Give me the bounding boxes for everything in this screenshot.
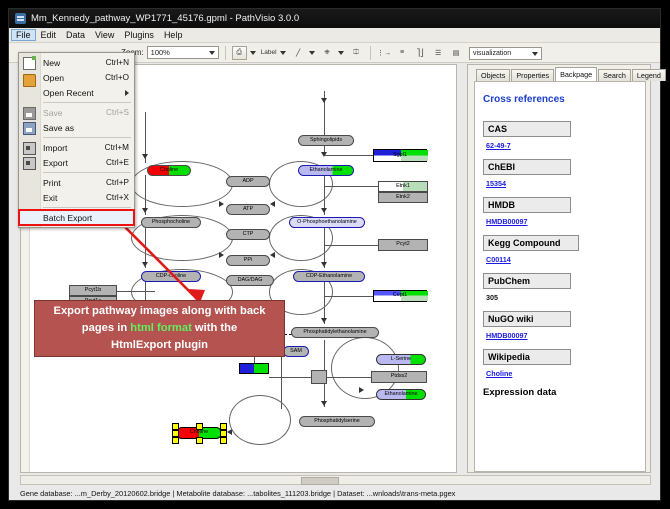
handle-ne[interactable]	[220, 423, 227, 430]
gene-pcyt1b[interactable]: Pcyt1b	[69, 285, 117, 296]
handle-nw[interactable]	[172, 423, 179, 430]
menu-item-exit[interactable]: Exit Ctrl+X	[19, 190, 134, 205]
xref-value-kegg[interactable]: C00114	[486, 255, 637, 264]
callout-line-2-before: pages in	[82, 322, 131, 334]
arrow-icon	[321, 401, 327, 406]
save-disk-icon	[23, 107, 36, 120]
edge	[324, 186, 378, 187]
cross-references-title: Cross references	[483, 94, 637, 105]
menu-item-save: Save Ctrl+S	[19, 105, 134, 120]
menu-item-open-recent-label: Open Recent	[43, 88, 94, 98]
node-l-serine[interactable]: L-Serine	[376, 354, 426, 365]
anchor-tool-icon[interactable]: ⎅	[349, 46, 364, 60]
title-bar: Mm_Kennedy_pathway_WP1771_45176.gpml - P…	[9, 9, 660, 28]
bring-front-icon[interactable]: ▤	[449, 46, 464, 60]
edge	[269, 377, 311, 378]
window-title: Mm_Kennedy_pathway_WP1771_45176.gpml - P…	[31, 13, 299, 24]
xref-label-nugo: NuGO wiki	[483, 311, 571, 327]
zoom-combobox[interactable]: 100%	[147, 46, 219, 59]
expression-data-heading: Expression data	[483, 387, 637, 398]
label-dropdown-icon[interactable]	[280, 51, 286, 55]
xref-value-wikipedia[interactable]: Choline	[486, 369, 637, 378]
toolbar-separator	[225, 46, 226, 60]
shape-tool-icon[interactable]: ⎈	[320, 46, 335, 60]
menu-item-exit-label: Exit	[43, 193, 57, 203]
visualization-combobox[interactable]: visualization	[469, 47, 542, 60]
scrollbar-thumb[interactable]	[301, 477, 339, 485]
edge	[324, 245, 378, 246]
menu-edit[interactable]: Edit	[36, 29, 62, 41]
menu-item-print[interactable]: Print Ctrl+P	[19, 175, 134, 190]
datanode-tool-icon[interactable]: ⎙	[232, 46, 247, 60]
node-phosphatidylethanolamine[interactable]: Phosphatidylethanolamine	[291, 327, 379, 338]
save-as-icon	[23, 122, 36, 135]
arrow-icon	[142, 208, 148, 213]
arrow-icon	[219, 201, 224, 207]
backpage-content: Cross references CAS 62-49-7 ChEBI 15354…	[474, 81, 646, 472]
menu-separator-1	[43, 102, 131, 103]
node-dag-dag[interactable]: DAG/DAG	[226, 275, 274, 286]
edge	[327, 377, 371, 378]
callout-line-1: Export pathway images along with back	[54, 303, 266, 320]
menu-item-new-accel: Ctrl+N	[106, 58, 129, 67]
menu-item-print-label: Print	[43, 178, 61, 188]
align-stack-icon[interactable]: ≡	[395, 46, 410, 60]
new-document-icon	[23, 57, 36, 70]
gene-ptdss2[interactable]: Ptdss2	[371, 371, 427, 383]
export-icon	[23, 157, 36, 170]
node-phosphatidylserine[interactable]: Phosphatidylserine	[299, 416, 375, 427]
menu-item-new[interactable]: New Ctrl+N	[19, 55, 134, 70]
menu-item-exit-accel: Ctrl+X	[106, 193, 129, 202]
menu-bar: File Edit Data View Plugins Help	[9, 28, 660, 43]
menu-item-export-accel: Ctrl+E	[106, 158, 129, 167]
menu-item-print-accel: Ctrl+P	[106, 178, 129, 187]
toolbar-separator-2	[370, 46, 371, 60]
node-ppi[interactable]: PPi	[226, 255, 270, 266]
node-phosphocholine[interactable]: Phosphocholine	[141, 217, 201, 228]
menu-item-open-accel: Ctrl+O	[105, 73, 129, 82]
xref-label-pubchem: PubChem	[483, 273, 571, 289]
distribute-icon[interactable]: ⎤⎦	[413, 46, 428, 60]
arrow-icon	[142, 262, 148, 267]
arrow-icon	[321, 318, 327, 323]
callout-line-2: pages in html format with the	[82, 320, 237, 337]
node-ethanolamine-bottom[interactable]: Ethanolamine	[376, 389, 426, 400]
tab-objects[interactable]: Objects	[476, 69, 510, 81]
cofactor-arc	[229, 395, 291, 445]
arrow-icon	[359, 387, 364, 393]
menu-help[interactable]: Help	[159, 29, 188, 41]
xref-value-nugo[interactable]: HMDB00097	[486, 331, 637, 340]
node-sam[interactable]: SAM	[283, 346, 309, 357]
menu-item-open-recent[interactable]: Open Recent	[19, 85, 134, 100]
tab-backpage[interactable]: Backpage	[555, 67, 597, 81]
xref-label-cas: CAS	[483, 121, 571, 137]
gene-pemt[interactable]	[239, 363, 269, 374]
selection-handles[interactable]	[172, 423, 226, 443]
menu-item-open[interactable]: Open Ctrl+O	[19, 70, 134, 85]
sidebar-panel: Objects Properties Backpage Search Legen…	[467, 64, 651, 473]
callout-line-3: HtmlExport plugin	[111, 337, 208, 354]
status-bar-text: Gene database: ...m_Derby_20120602.bridg…	[20, 489, 455, 498]
handle-e[interactable]	[220, 430, 227, 437]
datanode-dropdown-icon[interactable]	[250, 51, 256, 55]
xref-value-pubchem: 305	[486, 293, 637, 302]
gene-sgpl1[interactable]: Sgpl1	[373, 149, 427, 162]
gene-pcyt2[interactable]: Pcyt2	[378, 239, 428, 251]
edge	[324, 111, 325, 155]
tab-legend[interactable]: Legend	[632, 69, 666, 81]
arrow-icon	[270, 201, 275, 207]
pathvisio-icon	[15, 13, 26, 24]
menu-item-save-label: Save	[43, 108, 63, 118]
menu-separator-2	[43, 137, 131, 138]
menu-item-batch-export-label: Batch Export	[43, 213, 92, 223]
menu-item-export[interactable]: Export Ctrl+E	[19, 155, 134, 170]
handle-se[interactable]	[220, 437, 227, 444]
xref-value-hmdb[interactable]: HMDB00097	[486, 217, 637, 226]
node-cdp-ethanolamine[interactable]: CDP-Ethanolamine	[293, 271, 365, 282]
node-choline[interactable]: Choline	[147, 165, 191, 176]
line-tool-icon[interactable]: ╱	[291, 46, 306, 60]
sidebar-tabs: Objects Properties Backpage Search Legen…	[468, 65, 650, 81]
gene-etnk1[interactable]: Etnk1	[378, 181, 428, 192]
menu-plugins[interactable]: Plugins	[119, 29, 159, 41]
edge	[324, 296, 373, 297]
node-ctp[interactable]: CTP	[226, 229, 270, 240]
edge	[324, 155, 373, 156]
application-window: Mm_Kennedy_pathway_WP1771_45176.gpml - P…	[8, 8, 661, 501]
label-tool-label[interactable]: Label	[261, 49, 277, 56]
import-icon	[23, 142, 36, 155]
gene-pld-box[interactable]	[311, 370, 327, 384]
chevron-down-icon	[209, 51, 215, 55]
xref-label-hmdb: HMDB	[483, 197, 571, 213]
zoom-value: 100%	[151, 48, 170, 57]
menu-view[interactable]: View	[90, 29, 119, 41]
xref-label-wikipedia: Wikipedia	[483, 349, 571, 365]
xref-value-chebi[interactable]: 15354	[486, 179, 637, 188]
arrow-icon	[321, 98, 327, 103]
node-o-phosphoethanolamine[interactable]: O-Phosphoethanolamine	[289, 217, 365, 228]
node-atp[interactable]: ATP	[226, 204, 270, 215]
status-bar: Gene database: ...m_Derby_20120602.bridg…	[20, 487, 651, 499]
menu-separator-3	[43, 172, 131, 173]
tab-properties[interactable]: Properties	[511, 69, 554, 81]
tab-search[interactable]: Search	[598, 69, 631, 81]
xref-label-chebi: ChEBI	[483, 159, 571, 175]
menu-item-import-accel: Ctrl+M	[105, 143, 129, 152]
arrow-icon	[321, 262, 327, 267]
node-sphingolipids[interactable]: Sphingolipids	[298, 135, 354, 146]
menu-item-import-label: Import	[43, 143, 67, 153]
callout-highlight: html format	[130, 322, 192, 334]
screenshot-root: Mm_Kennedy_pathway_WP1771_45176.gpml - P…	[0, 0, 670, 509]
menu-item-save-as[interactable]: Save as	[19, 120, 134, 135]
menu-item-open-label: Open	[43, 73, 64, 83]
handle-w[interactable]	[172, 430, 179, 437]
node-ethanolamine[interactable]: Ethanolamine	[298, 165, 354, 176]
menu-file[interactable]: File	[11, 29, 36, 41]
xref-label-kegg: Kegg Compound	[483, 235, 579, 251]
arrow-icon	[219, 252, 224, 258]
callout-line-2-after: with the	[192, 322, 237, 334]
menu-separator-4	[43, 207, 131, 208]
annotation-callout: Export pathway images along with back pa…	[34, 300, 285, 357]
arrow-icon	[270, 252, 275, 258]
handle-sw[interactable]	[172, 437, 179, 444]
menu-item-new-label: New	[43, 58, 60, 68]
menu-item-export-label: Export	[43, 158, 68, 168]
arrow-icon	[321, 208, 327, 213]
arrow-icon	[142, 154, 148, 159]
xref-value-cas[interactable]: 62-49-7	[486, 141, 637, 150]
shape-dropdown-icon[interactable]	[338, 51, 344, 55]
chevron-down-icon	[532, 52, 538, 56]
edge	[117, 291, 155, 292]
menu-item-save-accel: Ctrl+S	[106, 108, 129, 117]
handle-n[interactable]	[196, 423, 203, 430]
visualization-value: visualization	[473, 50, 511, 57]
gene-etnk2[interactable]: Etnk2	[378, 192, 428, 203]
same-width-icon[interactable]: ☰	[431, 46, 446, 60]
gene-cept1[interactable]: Cept1	[373, 290, 427, 302]
menu-item-batch-export[interactable]: Batch Export	[19, 210, 134, 225]
node-cdp-choline[interactable]: CDP-choline	[141, 271, 201, 282]
menu-item-import[interactable]: Import Ctrl+M	[19, 140, 134, 155]
menu-data[interactable]: Data	[61, 29, 90, 41]
menu-item-save-as-label: Save as	[43, 123, 74, 133]
horizontal-scrollbar[interactable]	[20, 475, 651, 485]
line-dropdown-icon[interactable]	[309, 51, 315, 55]
node-adp[interactable]: ADP	[226, 176, 270, 187]
align-left-icon[interactable]: ⋮→	[377, 46, 392, 60]
handle-s[interactable]	[196, 437, 203, 444]
file-menu-popup[interactable]: New Ctrl+N Open Ctrl+O Open Recent Save …	[18, 52, 135, 228]
